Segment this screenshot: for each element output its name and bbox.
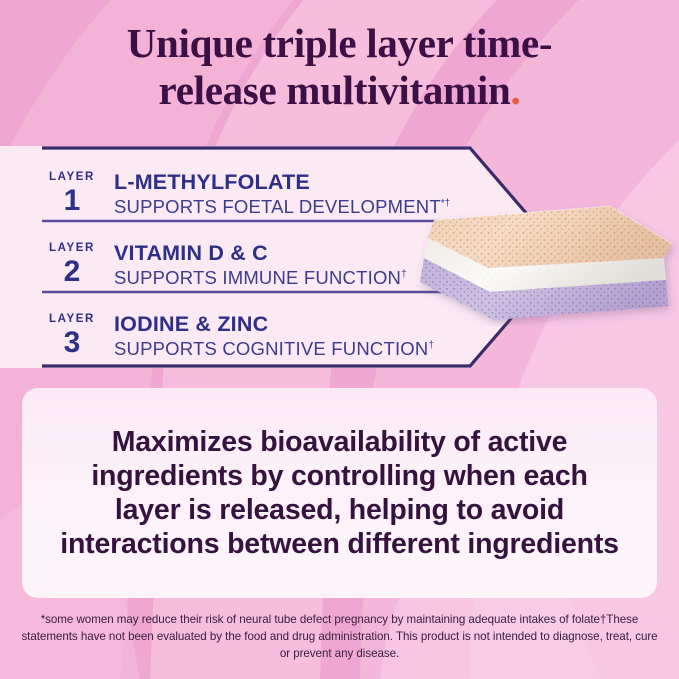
- layer-badge: LAYER 3: [42, 314, 102, 359]
- layer-subtitle: SUPPORTS FOETAL DEVELOPMENT*†: [114, 196, 450, 218]
- layer-row: LAYER 3 IODINE & ZINC SUPPORTS COGNITIVE…: [42, 303, 462, 369]
- layer-subtitle-text: SUPPORTS COGNITIVE FUNCTION: [114, 338, 428, 359]
- title-accent-period: .: [510, 67, 520, 113]
- layer-subtitle: SUPPORTS IMMUNE FUNCTION†: [114, 267, 407, 289]
- layer-number: 2: [42, 256, 102, 288]
- layer-word-label: LAYER: [42, 172, 102, 184]
- layer-subtitle-text: SUPPORTS IMMUNE FUNCTION: [114, 267, 401, 288]
- title-line-1: Unique triple layer time-: [127, 20, 553, 66]
- layer-badge: LAYER 2: [42, 243, 102, 288]
- layer-word-label: LAYER: [42, 314, 102, 326]
- layer-text-group: IODINE & ZINC SUPPORTS COGNITIVE FUNCTIO…: [102, 312, 434, 360]
- layer-title: IODINE & ZINC: [114, 312, 434, 337]
- layer-title: L-METHYLFOLATE: [114, 170, 450, 195]
- page-title: Unique triple layer time-release multivi…: [56, 20, 623, 113]
- layer-text-group: VITAMIN D & C SUPPORTS IMMUNE FUNCTION†: [102, 241, 407, 289]
- layer-row: LAYER 1 L-METHYLFOLATE SUPPORTS FOETAL D…: [42, 161, 462, 227]
- layer-row: LAYER 2 VITAMIN D & C SUPPORTS IMMUNE FU…: [42, 232, 462, 298]
- benefit-callout-box: Maximizes bioavailability of active ingr…: [22, 388, 657, 598]
- layer-badge: LAYER 1: [42, 172, 102, 217]
- layer-subtitle: SUPPORTS COGNITIVE FUNCTION†: [114, 338, 434, 360]
- benefit-callout-text: Maximizes bioavailability of active ingr…: [56, 425, 623, 562]
- layer-number: 3: [42, 327, 102, 359]
- layer-title: VITAMIN D & C: [114, 241, 407, 266]
- layer-superscript-marker: †: [428, 340, 434, 351]
- title-line-2: release multivitamin: [159, 67, 511, 113]
- layer-subtitle-text: SUPPORTS FOETAL DEVELOPMENT: [114, 196, 441, 217]
- headline-block: Unique triple layer time-release multivi…: [0, 20, 679, 113]
- layer-number: 1: [42, 185, 102, 217]
- layer-text-group: L-METHYLFOLATE SUPPORTS FOETAL DEVELOPME…: [102, 170, 450, 218]
- promo-graphic: Unique triple layer time-release multivi…: [0, 0, 679, 679]
- tablet-product-image: [410, 196, 679, 326]
- tablet-illustration: [410, 196, 679, 326]
- layer-superscript-marker: †: [401, 269, 407, 280]
- footer-disclaimer-text: *some women may reduce their risk of neu…: [18, 612, 661, 662]
- layer-row-list: LAYER 1 L-METHYLFOLATE SUPPORTS FOETAL D…: [42, 146, 462, 368]
- footer-disclaimer: *some women may reduce their risk of neu…: [0, 612, 679, 662]
- layer-word-label: LAYER: [42, 243, 102, 255]
